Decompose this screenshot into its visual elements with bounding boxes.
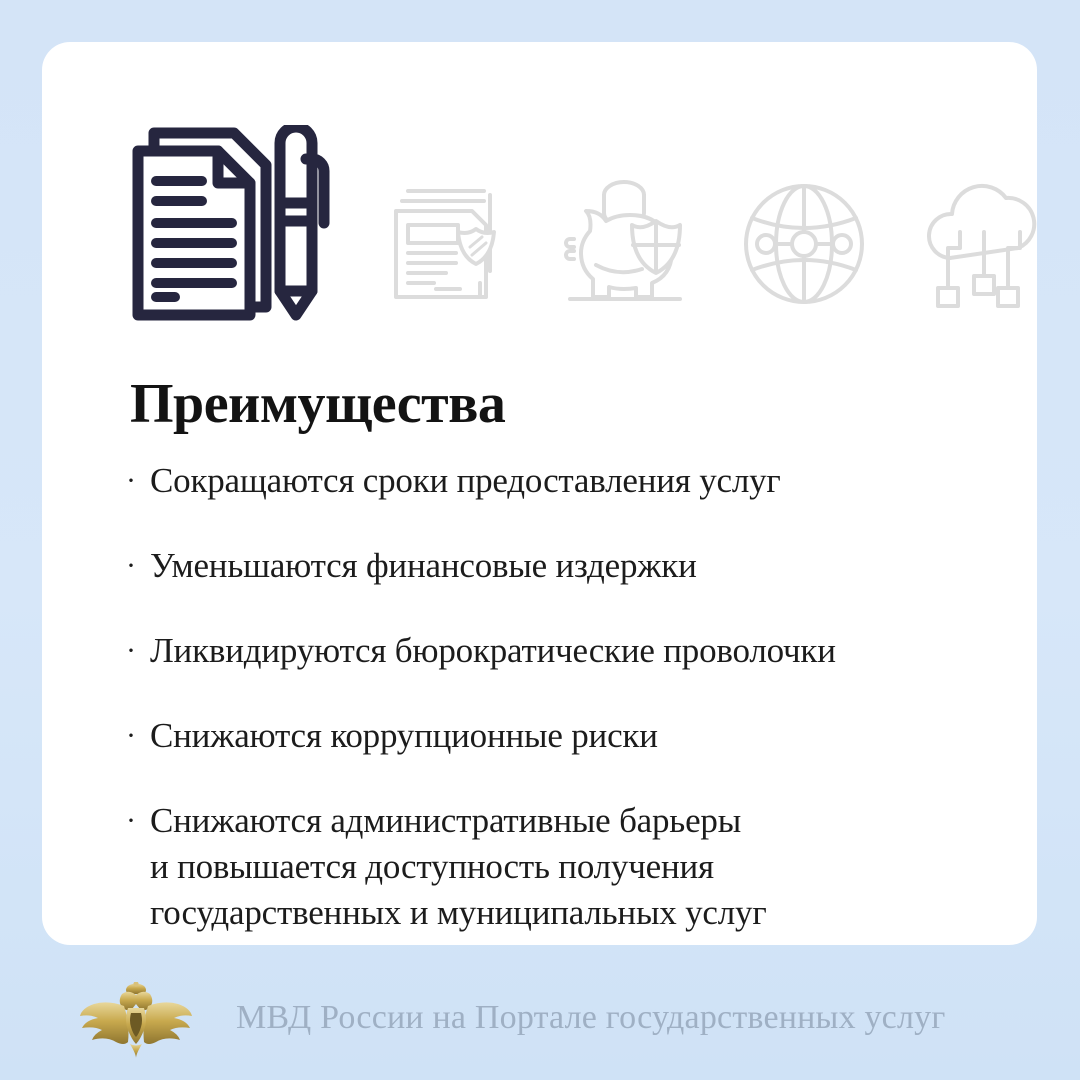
document-and-pen-icon (130, 125, 330, 321)
benefit-text: Снижаются коррупционные риски (150, 713, 1026, 759)
benefit-text: Уменьшаются финансовые издержки (150, 543, 1026, 589)
documents-shield-icon (390, 185, 510, 309)
footer-caption: МВД России на Портале государственных ус… (236, 996, 945, 1040)
list-item: · Ликвидируются бюрократические проволоч… (126, 628, 1026, 674)
bullet-icon: · (126, 628, 150, 674)
bullet-icon: · (126, 458, 150, 504)
benefit-text: Ликвидируются бюрократические проволочки (150, 628, 1026, 674)
bullet-icon: · (126, 543, 150, 589)
piggy-bank-shield-icon (560, 177, 690, 309)
benefit-text: Сокращаются сроки предоставления услуг (150, 458, 1026, 504)
footer: МВД России на Портале государственных ус… (0, 960, 1080, 1080)
list-item: · Сокращаются сроки предоставления услуг (126, 458, 1026, 504)
bullet-icon: · (126, 713, 150, 759)
list-item: · Снижаются коррупционные риски (126, 713, 1026, 759)
benefit-text: Снижаются административные барьеры и пов… (150, 798, 1026, 936)
list-item: · Уменьшаются финансовые издержки (126, 543, 1026, 589)
poster-root: Преимущества · Сокращаются сроки предост… (0, 0, 1080, 1080)
bullet-icon: · (126, 798, 150, 844)
page-title: Преимущества (130, 376, 505, 432)
globe-network-icon (740, 180, 868, 308)
icon-row (90, 85, 1010, 325)
mvd-eagle-emblem-icon (78, 982, 194, 1058)
cloud-computing-icon (920, 180, 1048, 310)
content-card: Преимущества · Сокращаются сроки предост… (42, 42, 1037, 945)
benefits-list: · Сокращаются сроки предоставления услуг… (126, 458, 1026, 936)
list-item: · Снижаются административные барьеры и п… (126, 798, 1026, 936)
